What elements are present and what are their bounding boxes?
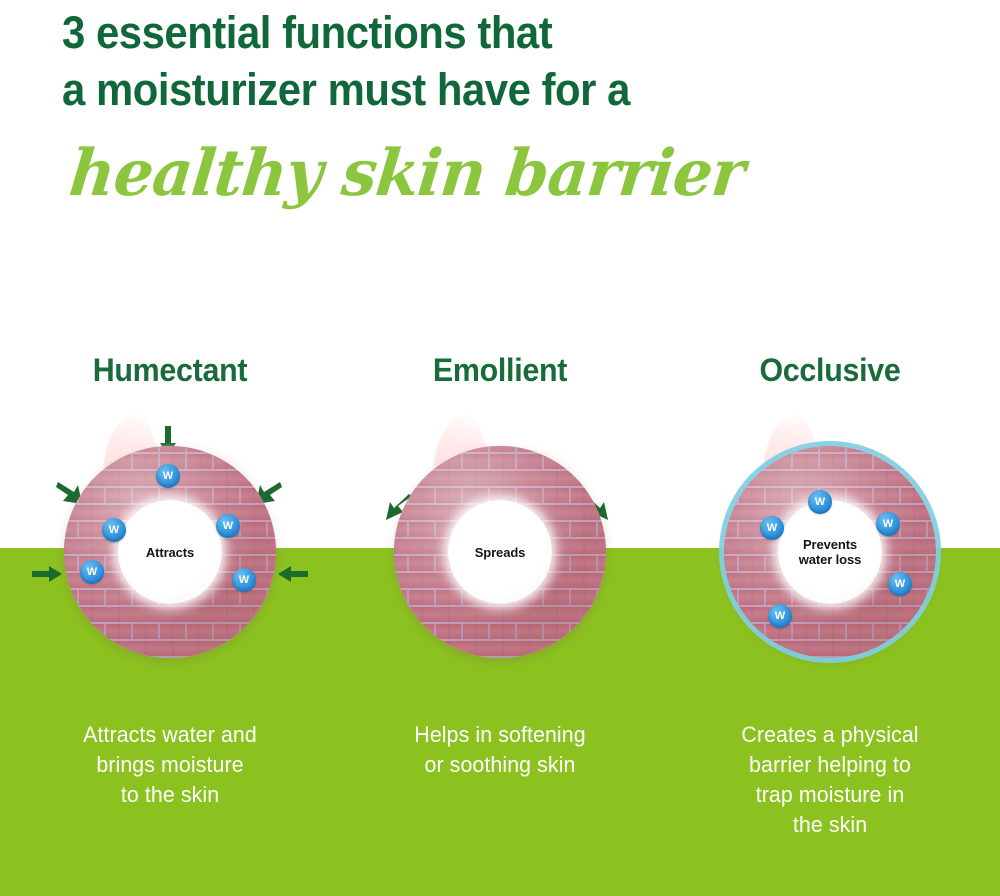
core-label-prevents-water-loss: Prevents water loss [799,537,862,567]
water-droplet-icon: W [888,572,912,596]
water-droplet-icon: W [876,512,900,536]
cell-core-emollient: Spreads [448,500,552,604]
caption-line: Helps in softening [345,720,655,750]
core-label-spreads: Spreads [475,545,526,560]
cell-core-humectant: Attracts [118,500,222,604]
column-title-humectant: Humectant [9,352,332,396]
cell-body: Prevents water loss W W W W W [724,446,936,658]
headline-script-line: healthy skin barrier [66,132,940,216]
caption-line: Attracts water and [5,720,335,750]
core-label-line-1: Prevents [803,537,857,552]
cell-body: Attracts W W W W W [64,446,276,658]
core-label-attracts: Attracts [146,545,194,560]
headline-block: 3 essential functions that a moisturizer… [62,4,962,216]
cell-body: Spreads [394,446,606,658]
infographic-canvas: 3 essential functions that a moisturizer… [0,0,1000,896]
water-droplet-icon: W [760,516,784,540]
caption-line: Creates a physical [665,720,995,750]
cell-core-occlusive: Prevents water loss [778,500,882,604]
column-title-occlusive: Occlusive [669,352,992,396]
functions-columns: Humectant [0,352,1000,852]
water-droplet-icon: W [156,464,180,488]
water-droplet-icon: W [80,560,104,584]
cell-diagram-emollient: Spreads [380,418,620,668]
caption-occlusive: Creates a physical barrier helping to tr… [665,720,995,840]
water-droplet-icon: W [768,604,792,628]
arrow-left-icon [278,564,308,584]
caption-humectant: Attracts water and brings moisture to th… [5,720,335,810]
water-droplet-icon: W [232,568,256,592]
cell-diagram-occlusive: Prevents water loss W W W W W [710,418,950,668]
column-title-emollient: Emollient [348,352,652,396]
water-droplet-icon: W [808,490,832,514]
caption-line: to the skin [5,780,335,810]
caption-line: the skin [665,810,995,840]
column-occlusive: Occlusive [660,352,1000,852]
caption-emollient: Helps in softening or soothing skin [345,720,655,780]
arrow-right-icon [32,564,62,584]
column-humectant: Humectant [0,352,340,852]
cell-diagram-humectant: Attracts W W W W W [50,418,290,668]
core-label-line-2: water loss [799,552,862,567]
column-emollient: Emollient [340,352,660,852]
water-droplet-icon: W [216,514,240,538]
headline-line-2: a moisturizer must have for a [62,61,899,118]
caption-line: or soothing skin [345,750,655,780]
caption-line: brings moisture [5,750,335,780]
water-droplet-icon: W [102,518,126,542]
caption-line: trap moisture in [665,780,995,810]
headline-line-1: 3 essential functions that [62,4,899,61]
caption-line: barrier helping to [665,750,995,780]
